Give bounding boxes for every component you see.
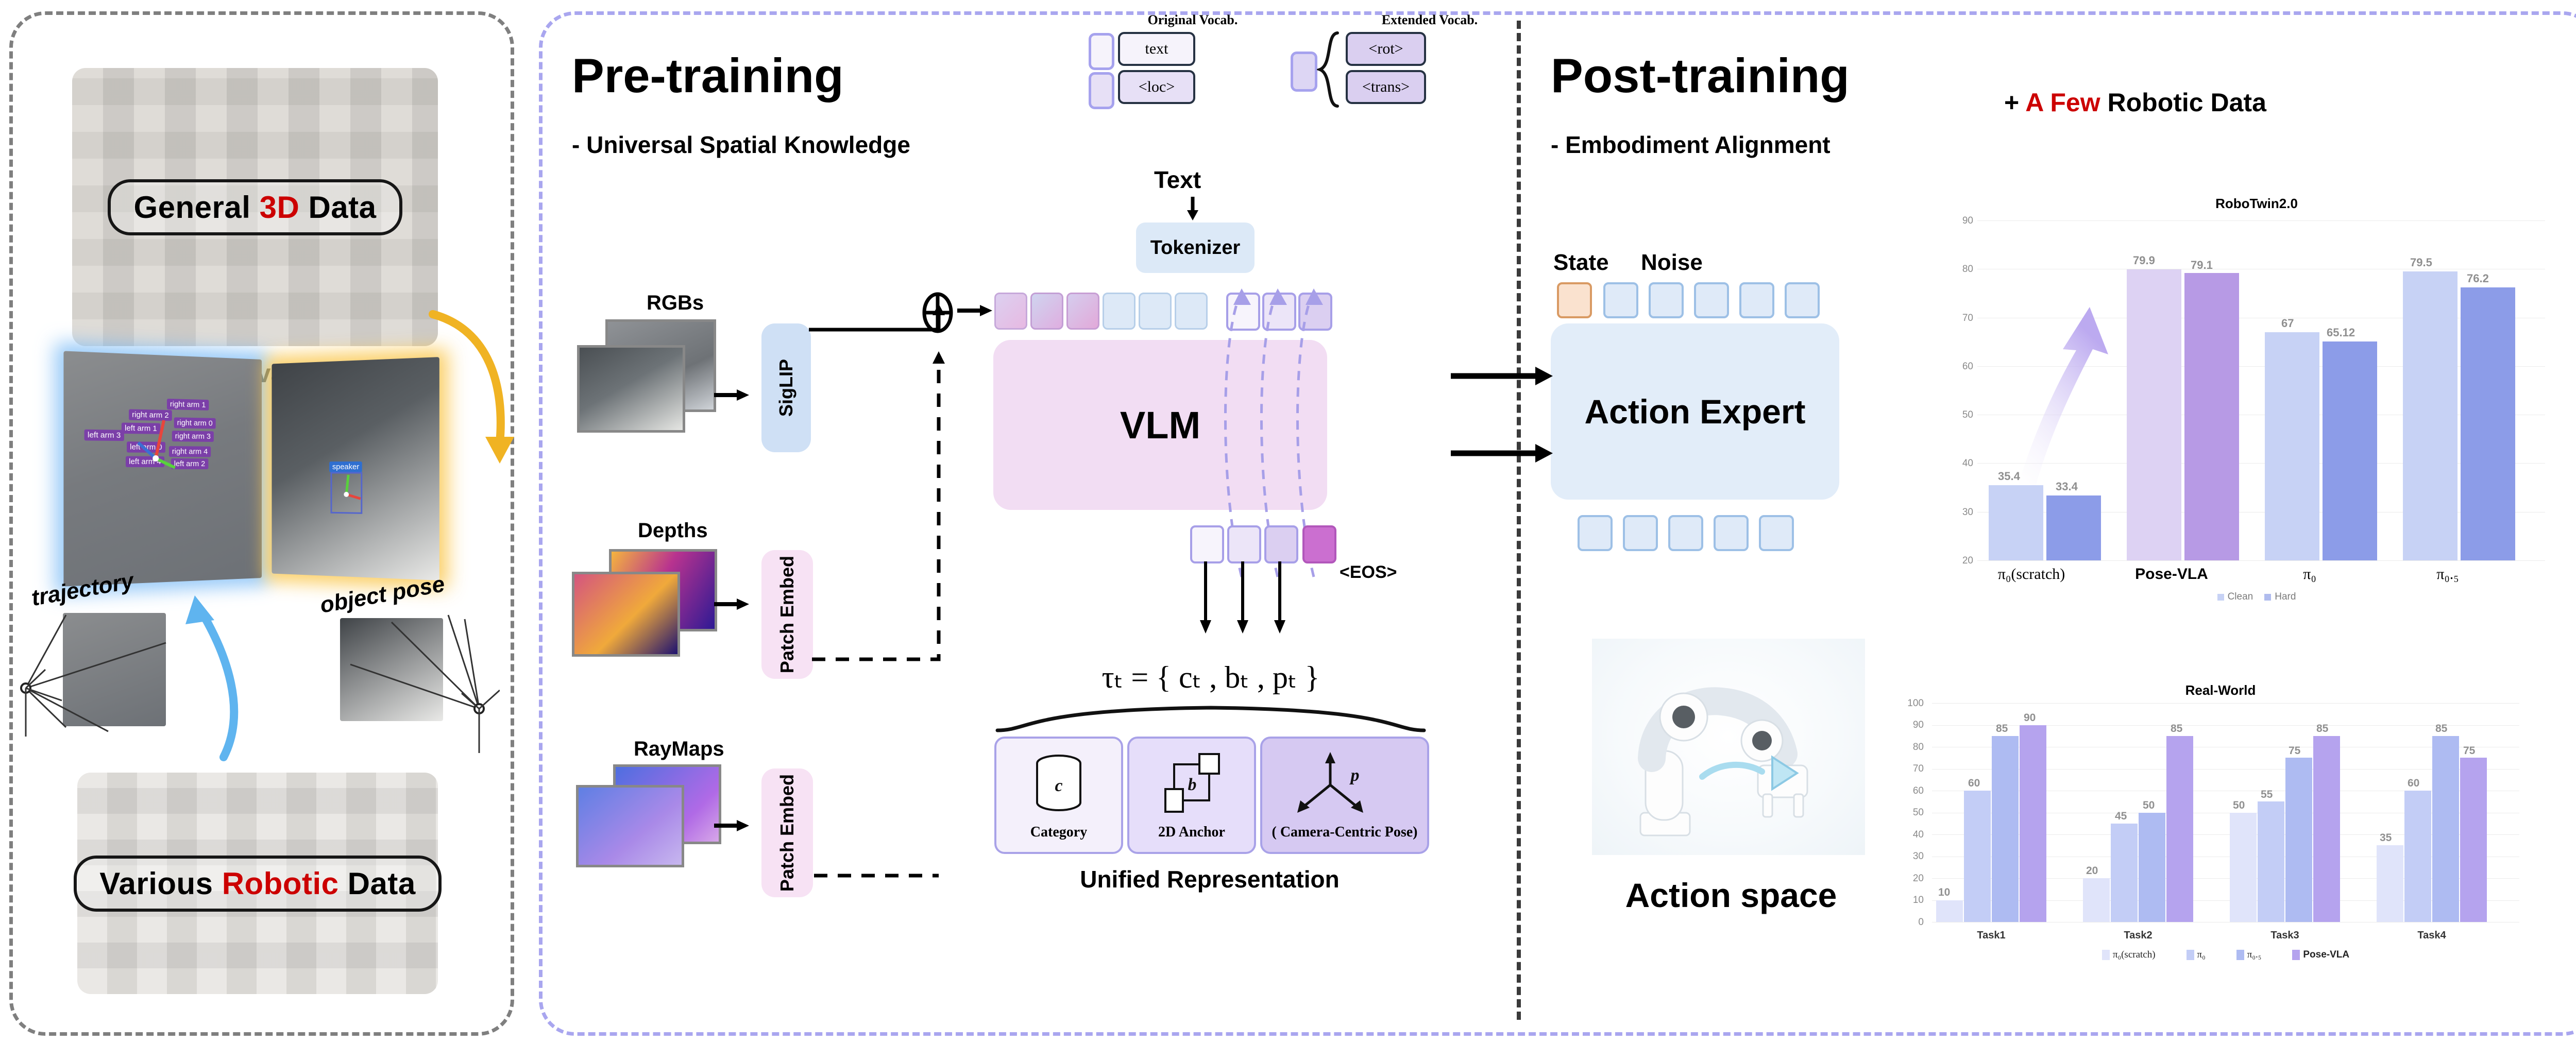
arm-tag: right arm 1	[167, 399, 209, 411]
y-tick: 90	[1952, 215, 1973, 227]
representation-card-label: ( Camera-Centric Pose)	[1262, 824, 1427, 841]
y-tick: 50	[1897, 807, 1924, 818]
bar-posevla	[2460, 758, 2487, 922]
state-label: State	[1553, 250, 1609, 276]
legend-item-hard: Hard	[2264, 591, 2296, 603]
bar-pi05	[1992, 736, 2019, 922]
pretraining-subtitle: - Universal Spatial Knowledge	[572, 133, 910, 157]
y-tick: 40	[1897, 829, 1924, 841]
yellow-flow-arrow	[428, 309, 520, 474]
encoder-merge-wires	[804, 304, 974, 901]
bar-pi0	[2258, 801, 2284, 922]
bar-pi05	[2139, 813, 2165, 922]
rgbs-label: RGBs	[647, 292, 704, 315]
y-tick: 40	[1952, 458, 1973, 469]
x-category-label: π₀(scratch)	[1967, 566, 2096, 583]
representation-card-category: c Category	[994, 737, 1123, 854]
rgb-to-siglip-arrow	[714, 387, 750, 403]
robotic-data-prefix: Various	[99, 866, 222, 901]
bar-pi0	[2111, 824, 2138, 922]
legend-item-posevla: Pose-VLA	[2292, 949, 2349, 961]
input-token	[1139, 293, 1172, 330]
robotic-data-suffix: Data	[339, 866, 416, 901]
y-tick: 60	[1952, 361, 1973, 372]
y-tick: 70	[1952, 313, 1973, 324]
x-category-label: π₀	[2245, 566, 2374, 583]
original-vocab-slot-2	[1089, 72, 1114, 109]
action-output-token	[1668, 515, 1703, 551]
pretraining-title: Pre-training	[572, 52, 844, 100]
x-category-label: Task1	[1935, 930, 2048, 942]
bar-value: 85	[2316, 723, 2328, 735]
legend-item-pi05: π₀.₅	[2236, 949, 2262, 961]
merge-to-tokens-arrow	[957, 303, 993, 318]
bar-clean	[2127, 269, 2181, 560]
svg-text:p: p	[1349, 766, 1360, 785]
camera-frustum-left	[5, 613, 175, 762]
output-token	[1227, 525, 1261, 563]
eos-label: <EOS>	[1340, 562, 1397, 583]
bar-value: 35.4	[1998, 470, 2020, 483]
y-tick: 20	[1952, 555, 1973, 567]
original-vocab-title: Original Vocab.	[1121, 12, 1265, 28]
svg-text:c: c	[1055, 776, 1062, 795]
bar-value: 76.2	[2467, 272, 2489, 285]
y-tick: 80	[1897, 742, 1924, 753]
posttraining-title: Post-training	[1551, 52, 1850, 100]
trajectory-observation-image: right arm 1 right arm 2 right arm 0 righ…	[63, 351, 262, 586]
action-output-token	[1759, 515, 1794, 551]
svg-text:b: b	[1188, 775, 1197, 794]
x-category-label: π₀.₅	[2383, 566, 2512, 583]
bar-pi05	[2432, 736, 2459, 922]
noise-token	[1694, 282, 1729, 318]
bar-value: 50	[2143, 799, 2155, 812]
action-space-label: Action space	[1551, 876, 1911, 915]
robotic-data-highlight: Robotic	[222, 866, 339, 901]
legend-item-pi0-scratch: π₀(scratch)	[2102, 949, 2156, 961]
bar-clean	[2265, 332, 2319, 560]
input-token	[1103, 293, 1136, 330]
bar-value: 75	[2289, 745, 2300, 757]
general-3d-data-chip: General 3D Data	[72, 68, 438, 346]
bar-value: 45	[2115, 810, 2127, 823]
general-data-suffix: Data	[299, 190, 376, 225]
vocab-token-rot: <rot>	[1346, 32, 1426, 66]
robot-arm-image	[1592, 639, 1865, 855]
realworld-chart: Real-World 10 60 85 90 20 45 50 85	[1870, 682, 2576, 976]
legend-swatch	[2187, 950, 2194, 960]
noise-token	[1739, 282, 1774, 318]
bar-hard	[2046, 495, 2101, 560]
depths-to-patchembed-arrow	[714, 596, 750, 612]
legend-item-clean: Clean	[2217, 591, 2253, 603]
arm-tag: left arm 3	[84, 430, 124, 441]
y-tick: 30	[1952, 507, 1973, 518]
general-data-prefix: General	[133, 190, 259, 225]
realworld-plot-area: 10 60 85 90 20 45 50 85 50 55 75 85 35 6…	[1932, 703, 2519, 922]
y-tick: 30	[1897, 851, 1924, 862]
raymaps-to-patchembed-arrow	[714, 818, 750, 833]
bar-value: 75	[2463, 745, 2475, 757]
tokens-to-formula-arrows	[1185, 561, 1340, 639]
y-tick: 10	[1897, 895, 1924, 906]
various-robotic-data-chip: Various Robotic Data	[77, 773, 438, 994]
vocab-token-text: text	[1118, 32, 1195, 66]
original-vocab-slot-1	[1089, 33, 1114, 70]
badge-suffix: Robotic Data	[2100, 88, 2266, 117]
extended-vocab-slot	[1291, 52, 1317, 92]
x-category-label: Pose-VLA	[2107, 566, 2236, 583]
extended-vocab-title: Extended Vocab.	[1352, 12, 1507, 28]
bar-pi0	[2404, 791, 2431, 922]
y-tick: 70	[1897, 763, 1924, 775]
legend-swatch	[2264, 594, 2271, 601]
camera-frustum-right	[330, 613, 500, 762]
bar-value: 85	[1996, 723, 2008, 735]
y-tick: 20	[1897, 873, 1924, 884]
state-token	[1557, 282, 1592, 318]
action-output-token	[1578, 515, 1613, 551]
formula-brace-icon	[994, 705, 1427, 733]
y-tick: 0	[1897, 917, 1924, 928]
bar-pi0-scratch	[1936, 900, 1963, 922]
representation-card-pose: p ( Camera-Centric Pose)	[1260, 737, 1429, 854]
bar-pi0	[1964, 791, 1991, 922]
stage-divider	[1517, 21, 1521, 1020]
representation-card-label: 2D Anchor	[1129, 824, 1254, 841]
patch-embed-raymaps-label: Patch Embed	[777, 774, 797, 892]
noise-token	[1649, 282, 1684, 318]
noise-token	[1603, 282, 1638, 318]
blue-flow-arrow	[170, 592, 263, 762]
badge-plus: +	[2004, 88, 2025, 117]
bar-value: 79.9	[2133, 254, 2155, 267]
input-token	[994, 293, 1027, 330]
bar-value: 85	[2435, 723, 2447, 735]
realworld-chart-legend: π₀(scratch) π₀ π₀.₅ Pose-VLA	[1932, 949, 2519, 961]
noise-label: Noise	[1641, 250, 1703, 276]
realworld-chart-title: Real-World	[1927, 682, 2514, 698]
bar-posevla	[2166, 736, 2193, 922]
input-token	[1030, 293, 1063, 330]
bar-pi0-scratch	[2377, 845, 2403, 922]
general-data-highlight: 3D	[260, 190, 300, 225]
text-to-tokenizer-arrow	[1185, 197, 1200, 221]
y-tick: 90	[1897, 720, 1924, 731]
action-output-token	[1714, 515, 1749, 551]
legend-item-pi0: π₀	[2187, 949, 2206, 961]
upward-trend-arrow-icon	[2012, 277, 2121, 493]
bar-pi0-scratch	[2083, 878, 2110, 922]
raymap-image-front	[576, 785, 684, 867]
legend-swatch	[2236, 950, 2244, 960]
bar-clean	[1989, 485, 2043, 560]
legend-swatch	[2292, 950, 2300, 960]
output-token	[1264, 525, 1298, 563]
legend-swatch	[2102, 950, 2110, 960]
bar-value: 35	[2380, 832, 2392, 844]
bar-pi05	[2285, 758, 2312, 922]
bar-value: 90	[2024, 712, 2036, 724]
bar-value: 20	[2086, 865, 2098, 877]
text-label: Text	[1154, 166, 1201, 194]
y-tick: 50	[1952, 409, 1973, 421]
bar-value: 79.1	[2191, 259, 2213, 272]
representation-card-anchor: b 2D Anchor	[1127, 737, 1256, 854]
bar-hard	[2323, 341, 2377, 560]
badge-highlight: A Few	[2025, 88, 2100, 117]
robotic-data-badge: + A Few Robotic Data	[2004, 88, 2266, 117]
bar-value: 60	[1968, 777, 1980, 790]
legend-swatch	[2217, 594, 2224, 601]
bar-value: 33.4	[2056, 480, 2078, 493]
robotwin-chart-title: RoboTwin2.0	[1937, 196, 2576, 212]
bar-value: 10	[1938, 886, 1950, 899]
bar-hard	[2461, 287, 2515, 560]
bar-value: 85	[2171, 723, 2182, 735]
eos-token	[1302, 525, 1336, 563]
depths-label: Depths	[638, 519, 708, 542]
y-tick: 100	[1897, 698, 1924, 709]
y-tick: 80	[1952, 264, 1973, 275]
unified-representation-caption: Unified Representation	[994, 865, 1425, 893]
action-output-token	[1623, 515, 1658, 551]
noise-token	[1785, 282, 1820, 318]
robotwin-plot-area: 35.4 33.4 79.9 79.1 67 65.12 79.5 76.2	[1977, 220, 2545, 560]
vocab-token-loc: <loc>	[1118, 70, 1195, 104]
y-tick: 60	[1897, 785, 1924, 797]
bar-value: 55	[2261, 789, 2273, 801]
bar-posevla	[2020, 725, 2046, 922]
bar-value: 67	[2281, 317, 2294, 330]
bar-posevla	[2313, 736, 2340, 922]
tokenizer-block: Tokenizer	[1136, 223, 1255, 273]
bar-value: 79.5	[2410, 256, 2432, 269]
output-token	[1190, 525, 1224, 563]
input-token	[1066, 293, 1099, 330]
object-pose-observation-image: speaker	[272, 357, 439, 580]
bar-clean	[2403, 271, 2458, 560]
depth-image-front	[572, 572, 680, 657]
x-category-label: Task2	[2081, 930, 2195, 942]
x-category-label: Task3	[2228, 930, 2342, 942]
unified-representation-formula: τₜ = { cₜ , bₜ , pₜ }	[1051, 659, 1370, 695]
raymaps-label: RayMaps	[634, 738, 724, 761]
posttraining-subtitle: - Embodiment Alignment	[1551, 133, 1831, 157]
vocab-brace-icon	[1317, 31, 1341, 108]
vlm-to-action-expert-arrows	[1451, 355, 1554, 484]
representation-card-label: Category	[996, 824, 1121, 841]
robotwin-chart: RoboTwin2.0 35.4 33.4 79.9	[1937, 196, 2576, 603]
bar-pi0-scratch	[2230, 813, 2257, 922]
bar-value: 50	[2233, 799, 2245, 812]
bar-hard	[2184, 273, 2239, 560]
action-expert-block: Action Expert	[1551, 323, 1839, 500]
robotwin-chart-legend: Clean Hard	[1937, 591, 2576, 603]
rgb-image-front	[577, 345, 685, 433]
bar-value: 65.12	[2327, 326, 2355, 339]
x-category-label: Task4	[2375, 930, 2488, 942]
patch-embed-depths-label: Patch Embed	[777, 556, 797, 673]
bar-value: 60	[2408, 777, 2419, 790]
vocab-token-trans: <trans>	[1346, 70, 1426, 104]
